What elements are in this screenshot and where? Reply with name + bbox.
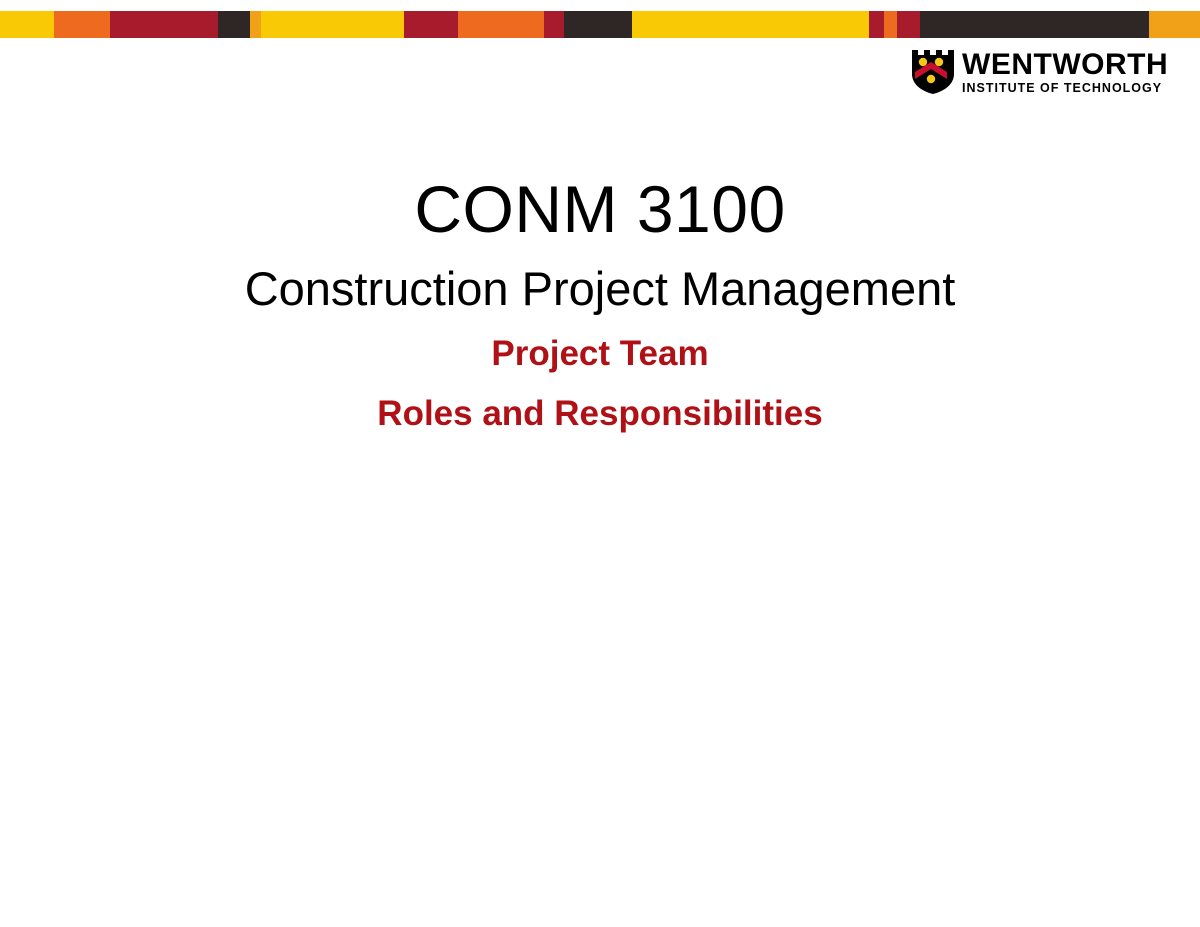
color-bar-segment-4 <box>250 11 261 38</box>
logo-institution-subtitle: INSTITUTE OF TECHNOLOGY <box>962 81 1168 95</box>
color-bar-segment-9 <box>564 11 632 38</box>
color-bar-segment-2 <box>110 11 218 38</box>
logo-institution-name: WENTWORTH <box>962 50 1168 80</box>
course-name-subtitle: Construction Project Management <box>100 256 1100 322</box>
color-bar-segment-14 <box>920 11 1149 38</box>
presentation-slide: WENTWORTH INSTITUTE OF TECHNOLOGY CONM 3… <box>0 0 1200 927</box>
color-bar-segment-1 <box>54 11 110 38</box>
wentworth-logo: WENTWORTH INSTITUTE OF TECHNOLOGY <box>911 47 1151 97</box>
color-bar-segment-15 <box>1149 11 1200 38</box>
color-bar-segment-12 <box>884 11 897 38</box>
color-bar-segment-11 <box>869 11 884 38</box>
topic-line-project-team: Project Team <box>100 328 1100 380</box>
wentworth-wordmark: WENTWORTH INSTITUTE OF TECHNOLOGY <box>962 50 1168 95</box>
slide-content-area <box>100 520 1100 900</box>
color-bar-segment-7 <box>458 11 544 38</box>
decorative-color-bar <box>0 11 1200 38</box>
title-block: CONM 3100 Construction Project Managemen… <box>100 170 1100 440</box>
topic-line-roles-responsibilities: Roles and Responsibilities <box>100 388 1100 440</box>
color-bar-segment-10 <box>632 11 869 38</box>
color-bar-segment-5 <box>261 11 404 38</box>
wentworth-shield-icon <box>911 49 955 95</box>
course-code-title: CONM 3100 <box>100 170 1100 248</box>
color-bar-segment-3 <box>218 11 250 38</box>
color-bar-segment-6 <box>404 11 458 38</box>
color-bar-segment-0 <box>0 11 54 38</box>
color-bar-segment-13 <box>897 11 920 38</box>
color-bar-segment-8 <box>544 11 564 38</box>
